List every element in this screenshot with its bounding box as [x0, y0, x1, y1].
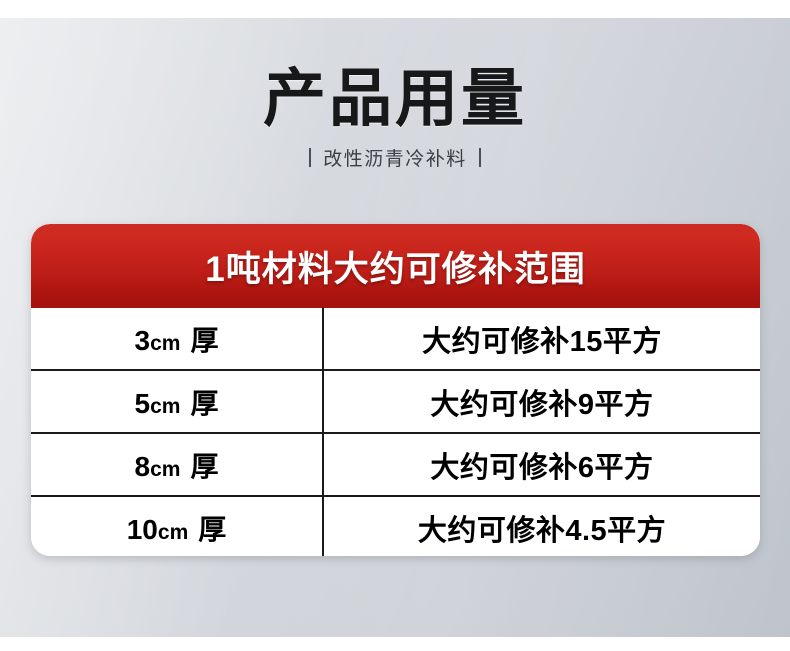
cell-area: 大约可修补15平方	[323, 308, 760, 370]
cell-area: 大约可修补4.5平方	[323, 496, 760, 556]
subtitle-rule-left-icon	[309, 148, 311, 167]
card-banner: 1吨材料大约可修补范围	[31, 224, 760, 308]
specification-table: 3cm厚 大约可修补15平方 5cm厚 大约可修补9平方 8cm厚 大约可修补6…	[31, 308, 760, 556]
thickness-word: 厚	[190, 325, 218, 356]
cell-area: 大约可修补9平方	[323, 370, 760, 433]
table-row: 3cm厚 大约可修补15平方	[31, 308, 760, 370]
thickness-value: 10	[127, 514, 158, 545]
subtitle-row: 改性沥青冷补料	[0, 144, 790, 171]
thickness-value: 5	[135, 388, 151, 419]
cell-thickness: 10cm厚	[31, 496, 323, 556]
spec-card: 1吨材料大约可修补范围 3cm厚 大约可修补15平方 5cm厚 大约可修补9平方	[31, 224, 760, 556]
promo-graphic: 产品用量 改性沥青冷补料 1吨材料大约可修补范围 3cm厚 大约可修补15平方	[0, 0, 790, 651]
thickness-unit: cm	[158, 521, 188, 544]
thickness-word: 厚	[198, 514, 226, 545]
thickness-value: 8	[135, 451, 151, 482]
table-row: 8cm厚 大约可修补6平方	[31, 433, 760, 496]
cell-thickness: 8cm厚	[31, 433, 323, 496]
cell-thickness: 5cm厚	[31, 370, 323, 433]
thickness-unit: cm	[150, 395, 180, 418]
thickness-unit: cm	[150, 458, 180, 481]
subtitle-text: 改性沥青冷补料	[323, 144, 467, 171]
thickness-unit: cm	[150, 332, 180, 355]
page-title: 产品用量	[0, 62, 790, 136]
title-block: 产品用量 改性沥青冷补料	[0, 62, 790, 171]
thickness-value: 3	[135, 325, 151, 356]
banner-title: 1吨材料大约可修补范围	[205, 241, 585, 292]
cell-thickness: 3cm厚	[31, 308, 323, 370]
table-row: 5cm厚 大约可修补9平方	[31, 370, 760, 433]
thickness-word: 厚	[190, 451, 218, 482]
thickness-word: 厚	[190, 388, 218, 419]
cell-area: 大约可修补6平方	[323, 433, 760, 496]
table-row: 10cm厚 大约可修补4.5平方	[31, 496, 760, 556]
subtitle-rule-right-icon	[479, 148, 481, 167]
